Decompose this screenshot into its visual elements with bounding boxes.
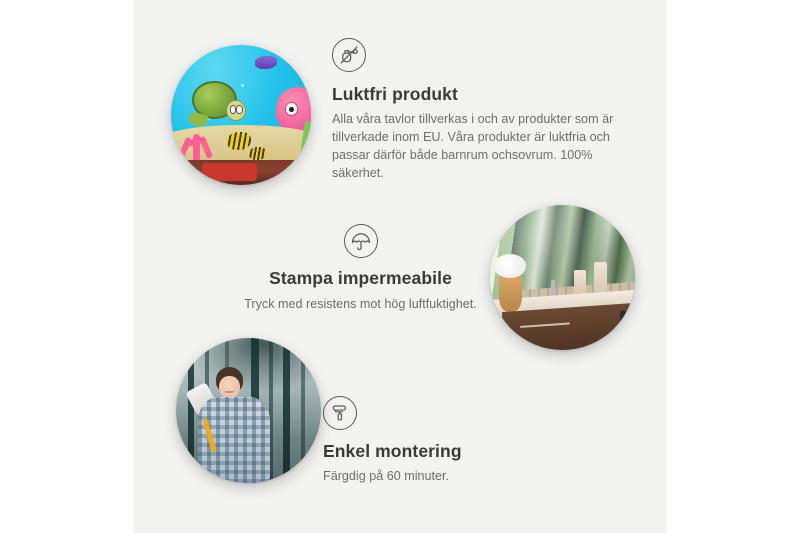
furniture-foreground-strip (171, 160, 311, 185)
feature-title: Stampa impermeabile (188, 268, 533, 289)
feature-easy-mounting: Enkel montering Färgdig på 60 minuter. (323, 396, 603, 486)
feature-description: Alla våra tavlor tillverkas i och av pro… (332, 111, 632, 183)
umbrella-icon (344, 224, 378, 258)
painter-photo-inner (176, 338, 321, 483)
octopus-eye (285, 102, 297, 116)
feature-waterproof: Stampa impermeabile Tryck med resistens … (188, 224, 533, 314)
sea-turtle-icon (188, 81, 244, 123)
screenshot-stage: Luktfri produkt Alla våra tavlor tillver… (0, 0, 800, 533)
feature-odour-free: Luktfri produkt Alla våra tavlor tillver… (332, 38, 632, 183)
feature-title: Luktfri produkt (332, 84, 632, 105)
striped-fish-icon (249, 147, 266, 160)
underwater-cartoon-photo (171, 45, 311, 185)
purple-fish-icon (255, 56, 277, 69)
coral-icon (177, 123, 219, 162)
feature-title: Enkel montering (323, 441, 603, 462)
woman-painter-photo (176, 338, 321, 483)
striped-fish-icon (227, 132, 251, 150)
bathroom-bottle (574, 270, 586, 295)
paint-roller-icon (323, 396, 357, 430)
product-features-panel: Luktfri produkt Alla våra tavlor tillver… (133, 0, 667, 533)
turtle-head (226, 100, 246, 120)
no-fragrance-icon (332, 38, 366, 72)
feature-description: Tryck med resistens mot hög luftfuktighe… (188, 296, 533, 314)
bathroom-bottle (594, 262, 607, 295)
woman-face (219, 376, 240, 399)
woman-figure (196, 367, 271, 483)
feature-description: Färgdig på 60 minuter. (323, 468, 603, 486)
underwater-photo-inner (171, 45, 311, 185)
